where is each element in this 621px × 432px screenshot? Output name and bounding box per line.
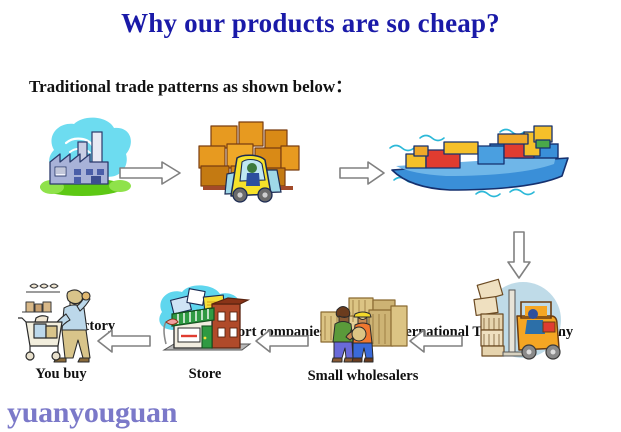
label-store: Store (160, 366, 250, 383)
node-you-buy: You buy (18, 278, 104, 364)
subtitle-text: Traditional trade patterns as shown belo… (29, 72, 352, 97)
node-international-trade: International Trade Company (380, 118, 580, 204)
node-major-wholesalers: Major wholesalers of your country (465, 272, 575, 364)
node-china-export: China export companies (185, 118, 315, 204)
truck-icon (185, 118, 315, 204)
arrow-major-to-small (408, 328, 464, 354)
store-icon (150, 278, 260, 364)
arrow-small-to-store (254, 328, 310, 354)
diagram-canvas: Why our products are so cheap? Tradition… (0, 0, 621, 432)
node-factory: Factory (36, 112, 146, 204)
arrow-store-to-you (96, 328, 152, 354)
watermark-text: yuanyouguan (7, 396, 177, 430)
cargo-ship-icon (380, 118, 580, 204)
label-small-wholesalers: Small wholesalers (293, 368, 433, 385)
node-small-wholesalers: Small wholesalers (315, 280, 411, 364)
node-store: Store (150, 278, 260, 364)
factory-icon (36, 112, 146, 204)
label-you-buy: You buy (16, 366, 106, 383)
arrow-factory-to-export (118, 160, 182, 186)
arrow-export-to-trade (338, 160, 386, 186)
shopper-cart-icon (18, 278, 104, 364)
forklift-icon (465, 272, 575, 364)
workers-boxes-icon (315, 280, 411, 364)
page-title: Why our products are so cheap? (0, 8, 621, 39)
